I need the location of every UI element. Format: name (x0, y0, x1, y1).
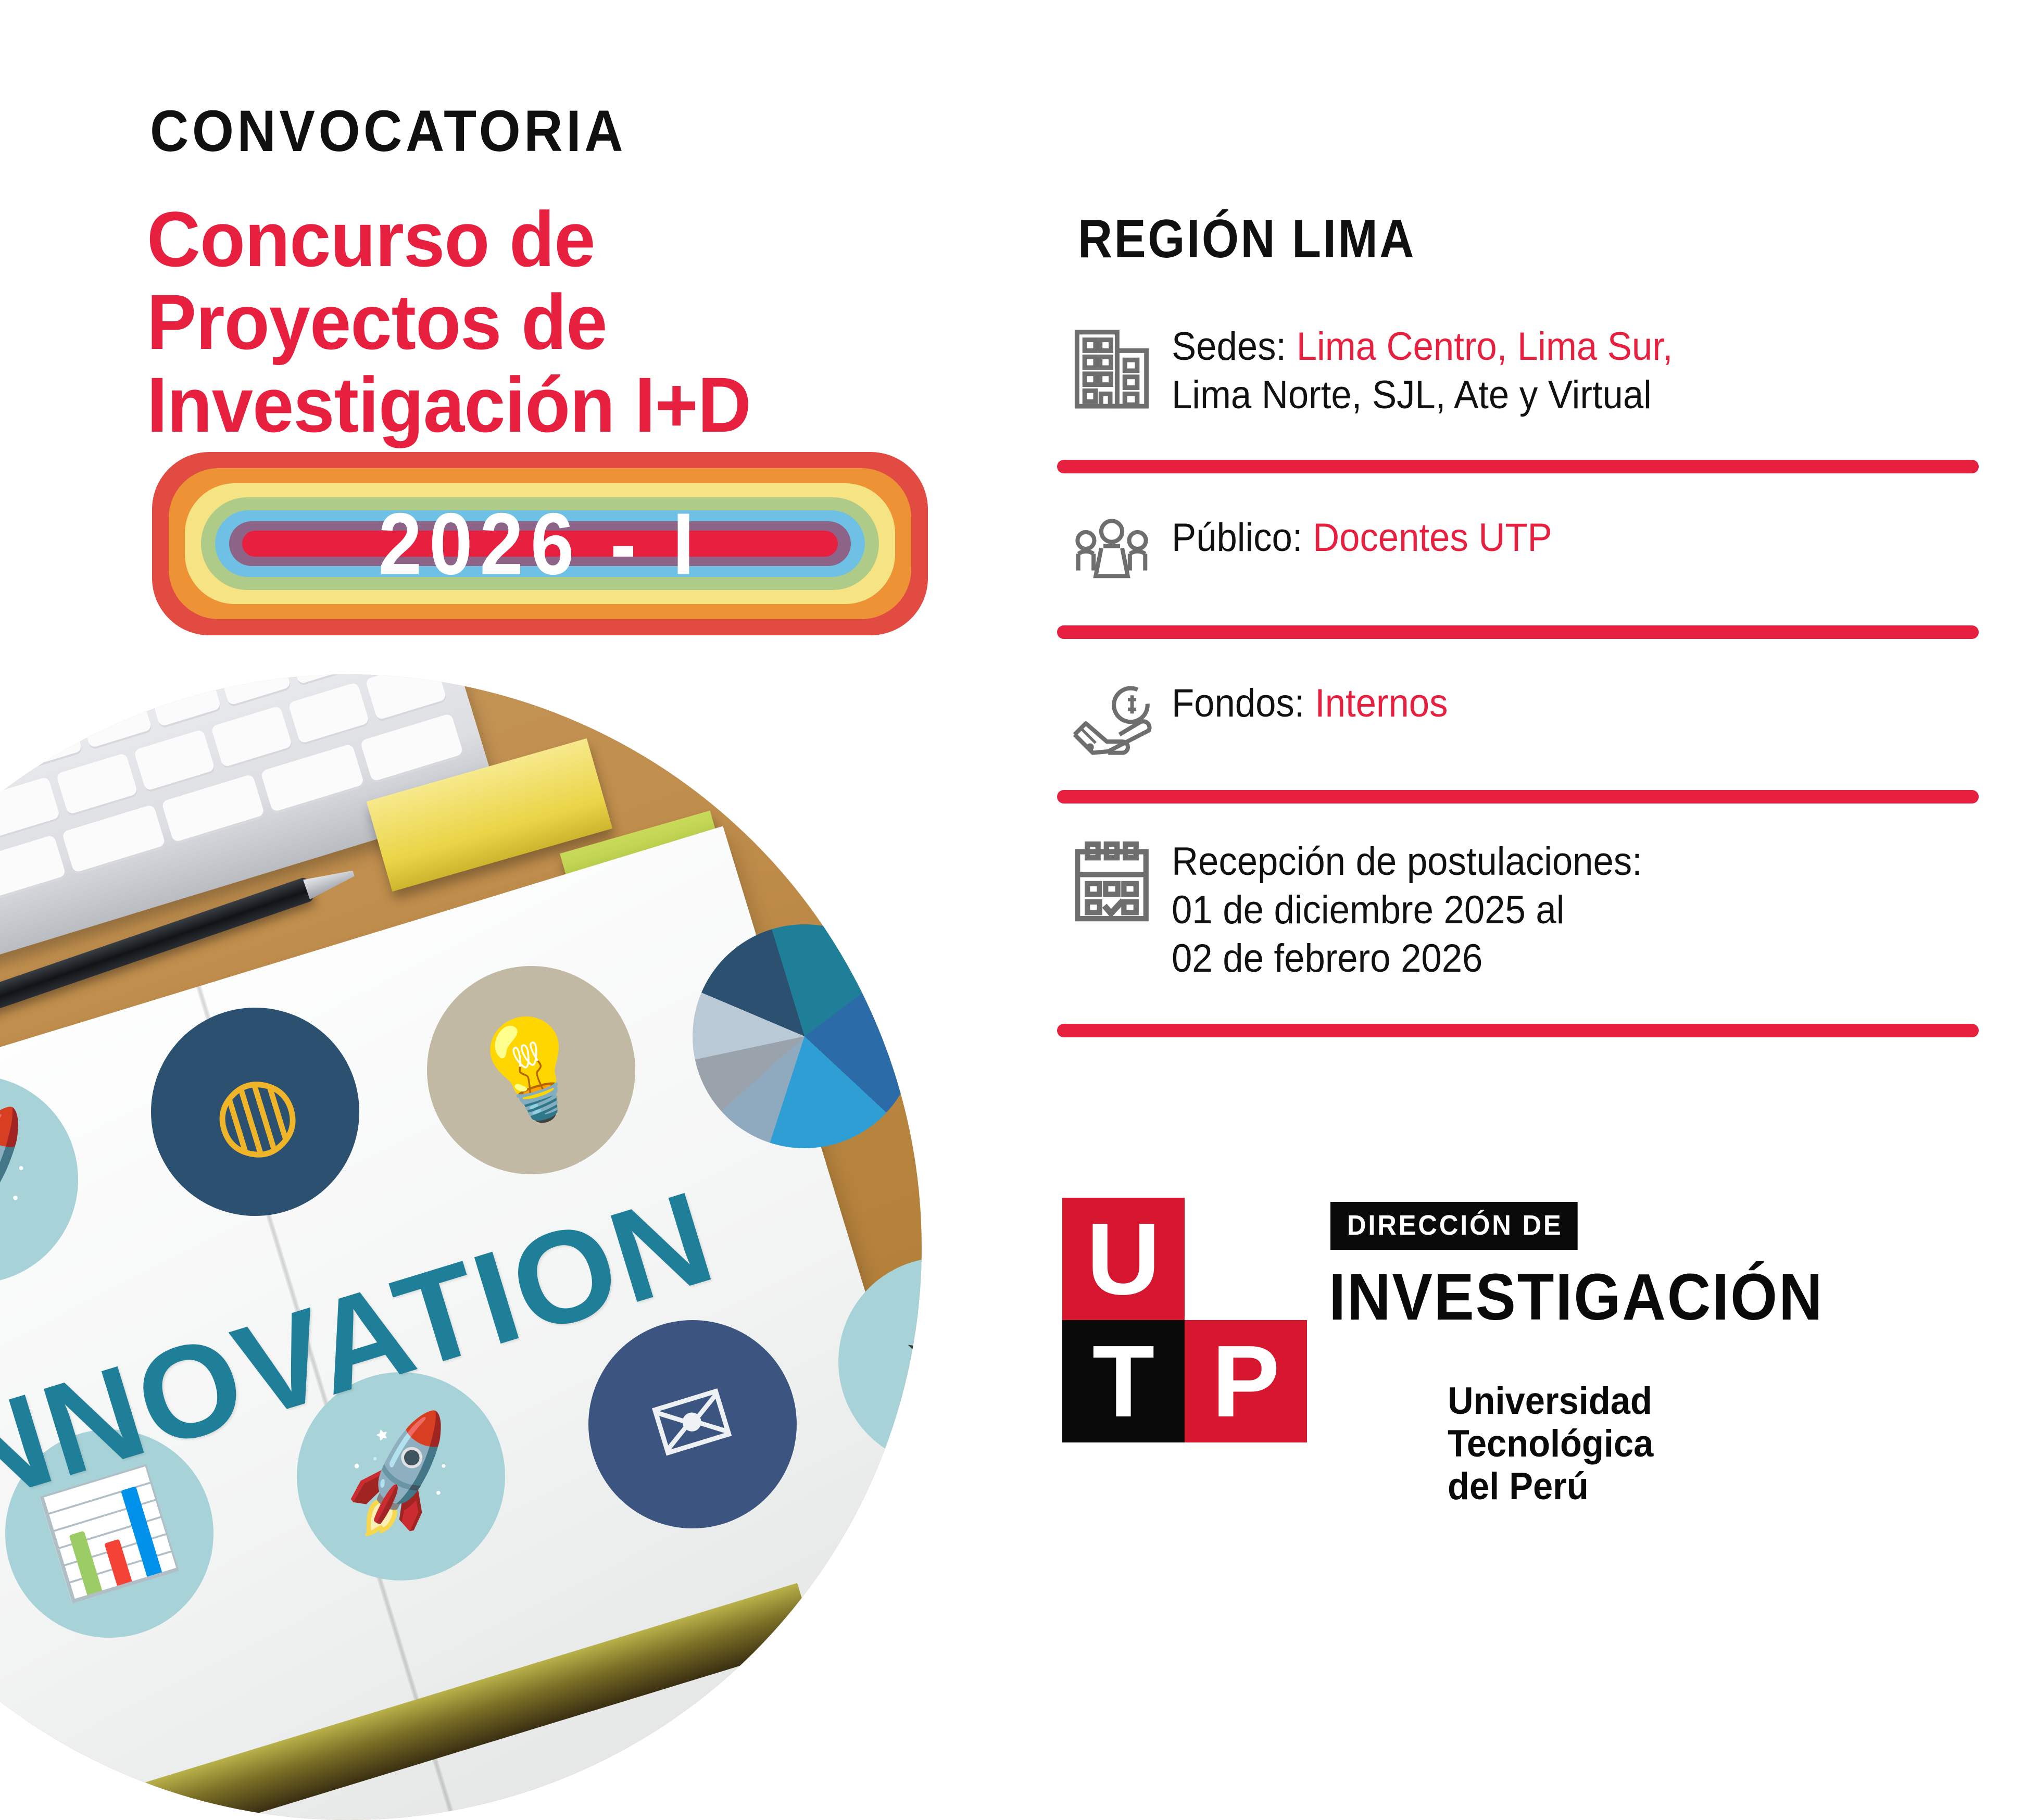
fondos-value: Internos (1315, 681, 1448, 725)
edition-badge (152, 452, 928, 635)
page-title: Concurso de Proyectos de Investigación I… (147, 198, 919, 446)
utp-logo-lockup: U T P DIRECCIÓN DE INVESTIGACIÓN Univers… (1062, 1198, 2000, 1609)
left-column: CONVOCATORIA Concurso de Proyectos de In… (0, 0, 989, 1704)
poster-root: CONVOCATORIA Concurso de Proyectos de In… (0, 0, 2036, 1704)
people-group-icon (1057, 514, 1166, 585)
divider-2 (1057, 625, 1979, 639)
divider-3 (1057, 790, 1979, 804)
sedes-label: Sedes: (1172, 324, 1286, 369)
utp-letter-p: P (1185, 1320, 1307, 1442)
utp-letter-u: U (1062, 1198, 1185, 1320)
recepcion-value-1: 01 de diciembre 2025 al (1172, 886, 1937, 935)
utp-logo-mark: U T P (1062, 1198, 1307, 1442)
fondos-label: Fondos: (1172, 681, 1304, 725)
badge-ring-red-core (242, 531, 838, 557)
recepcion-label: Recepción de postulaciones: (1172, 838, 1937, 886)
investigacion-word: INVESTIGACIÓN (1329, 1264, 1824, 1330)
info-row-fondos: Fondos: Internos (1057, 680, 1994, 756)
title-line-3: Investigación I+D (147, 363, 919, 446)
info-row-publico: Público: Docentes UTP (1057, 514, 1994, 585)
badge-ring-orange (169, 468, 911, 619)
hand-money-icon (1057, 680, 1166, 756)
info-row-recepcion: Recepción de postulaciones: 01 de diciem… (1057, 838, 1994, 983)
sedes-value-2: Lima Norte, SJL, Ate y Virtual (1172, 371, 1937, 420)
photo-collage: 🚀 ◍ 💡 📊 🚀 ✉ ➤ INNOVATION (0, 674, 922, 1820)
calendar-check-icon (1057, 838, 1166, 923)
badge-ring-green (201, 497, 879, 590)
region-title: REGIÓN LIMA (1078, 208, 1416, 270)
university-line-3: del Perú (1448, 1465, 1653, 1508)
badge-ring-blue (215, 510, 865, 577)
publico-value: Docentes UTP (1313, 516, 1552, 560)
badge-ring-yellow (185, 483, 895, 604)
fondos-text-cell: Fondos: Internos (1166, 680, 1994, 728)
title-line-2: Proyectos de (147, 281, 919, 363)
utp-letter-t: T (1062, 1320, 1185, 1442)
publico-label: Público: (1172, 516, 1302, 560)
sedes-text-cell: Sedes: Lima Centro, Lima Sur, Lima Norte… (1166, 323, 1994, 419)
sedes-value-1: Lima Centro, Lima Sur, (1297, 324, 1673, 369)
university-line-1: Universidad (1448, 1380, 1653, 1423)
publico-line: Público: Docentes UTP (1172, 514, 1937, 562)
recepcion-value-2: 02 de febrero 2026 (1172, 935, 1937, 983)
divider-4 (1057, 1024, 1979, 1037)
direccion-tag: DIRECCIÓN DE (1330, 1202, 1578, 1250)
kicker-label: CONVOCATORIA (150, 102, 626, 160)
building-icon (1057, 323, 1166, 409)
badge-ring-purple (229, 521, 851, 566)
right-column: REGIÓN LIMA (1057, 0, 2036, 1704)
recepcion-text-cell: Recepción de postulaciones: 01 de diciem… (1166, 838, 1994, 983)
title-line-1: Concurso de (147, 198, 919, 281)
info-rows: Sedes: Lima Centro, Lima Sur, Lima Norte… (1057, 323, 1994, 1037)
university-name: Universidad Tecnológica del Perú (1448, 1380, 1653, 1508)
divider-1 (1057, 460, 1979, 473)
publico-text-cell: Público: Docentes UTP (1166, 514, 1994, 562)
fondos-line: Fondos: Internos (1172, 680, 1937, 728)
info-row-sedes: Sedes: Lima Centro, Lima Sur, Lima Norte… (1057, 323, 1994, 419)
university-line-2: Tecnológica (1448, 1423, 1653, 1465)
utp-blank-quadrant (1185, 1198, 1307, 1320)
sedes-line-1: Sedes: Lima Centro, Lima Sur, (1172, 323, 1937, 371)
